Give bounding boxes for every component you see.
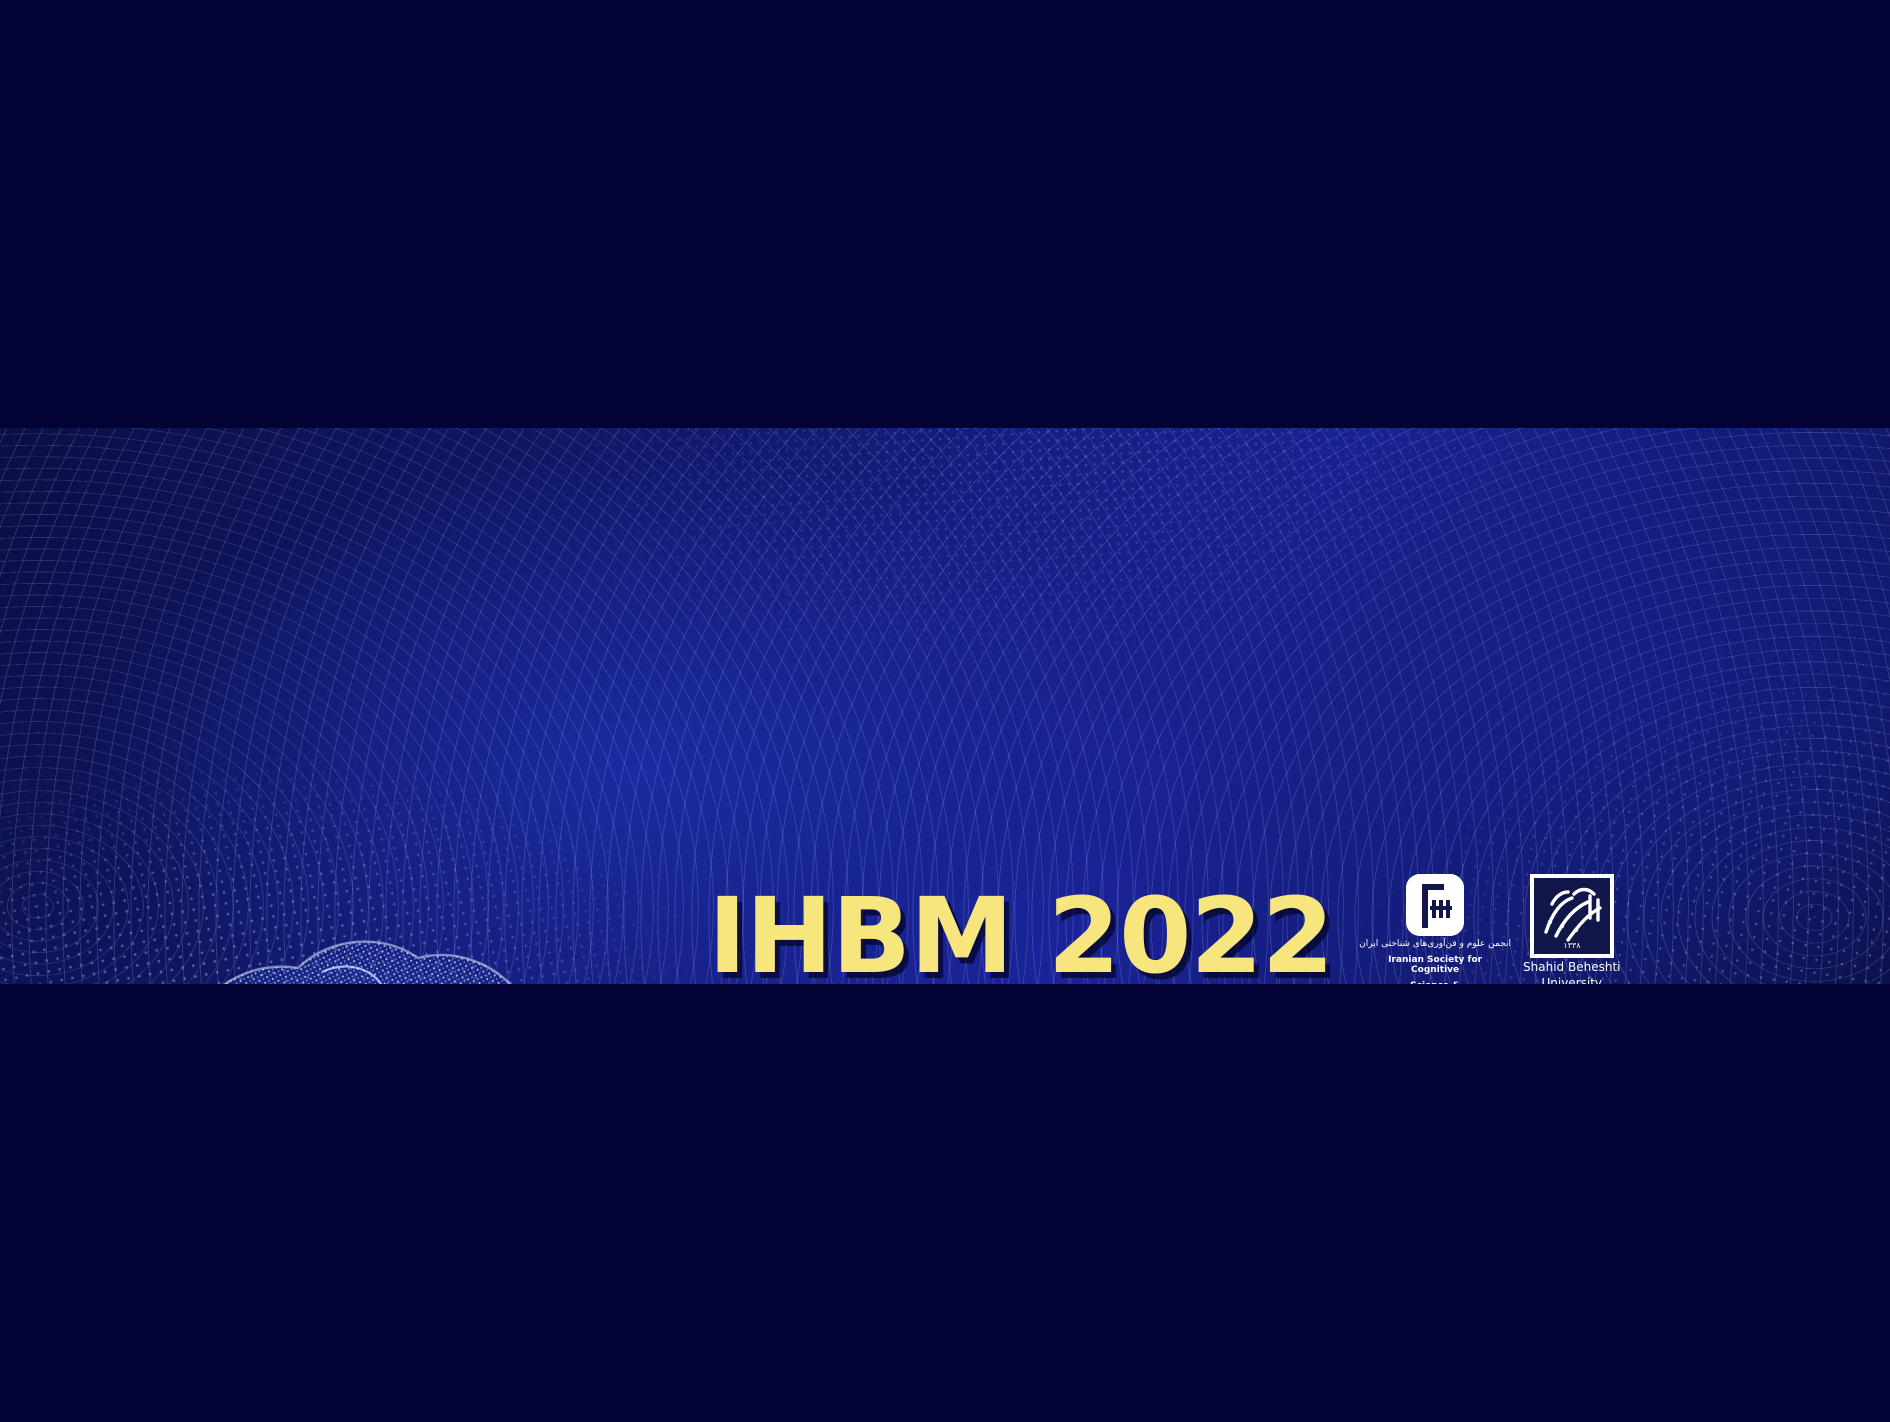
shahid-beheshti-mark-icon: ۱۳۳۸ xyxy=(1530,874,1614,958)
event-title: IHBM 2022 xyxy=(708,884,1333,984)
shahid-beheshti-caption-en-1: Shahid Beheshti xyxy=(1523,960,1620,974)
banner-content: IHBM 2022 xyxy=(700,880,1760,984)
cognitive-society-caption-en-2: Science & Technology xyxy=(1383,981,1487,984)
logo-iranian-society-cognitive[interactable]: انجمن علوم و فن‌آوری‌های شناختی ایران Ir… xyxy=(1359,874,1511,984)
cognitive-society-caption-fa: انجمن علوم و فن‌آوری‌های شناختی ایران xyxy=(1359,939,1511,950)
logo-group: انجمن علوم و فن‌آوری‌های شناختی ایران Ir… xyxy=(1359,874,1620,984)
wireframe-brain-graphic xyxy=(70,880,650,984)
cognitive-society-mark-icon xyxy=(1406,874,1464,936)
shahid-beheshti-caption-en-2: University xyxy=(1541,976,1602,984)
page-root: IHBM 2022 xyxy=(0,0,1890,1422)
logo-shahid-beheshti-university[interactable]: ۱۳۳۸ Shahid Beheshti University xyxy=(1523,874,1620,984)
cognitive-society-caption-en-1: Iranian Society for Cognitive xyxy=(1383,955,1487,976)
title-and-logos-row: IHBM 2022 xyxy=(700,880,1760,984)
event-banner: IHBM 2022 xyxy=(0,428,1890,984)
shahid-beheshti-founded-year: ۱۳۳۸ xyxy=(1563,941,1581,950)
